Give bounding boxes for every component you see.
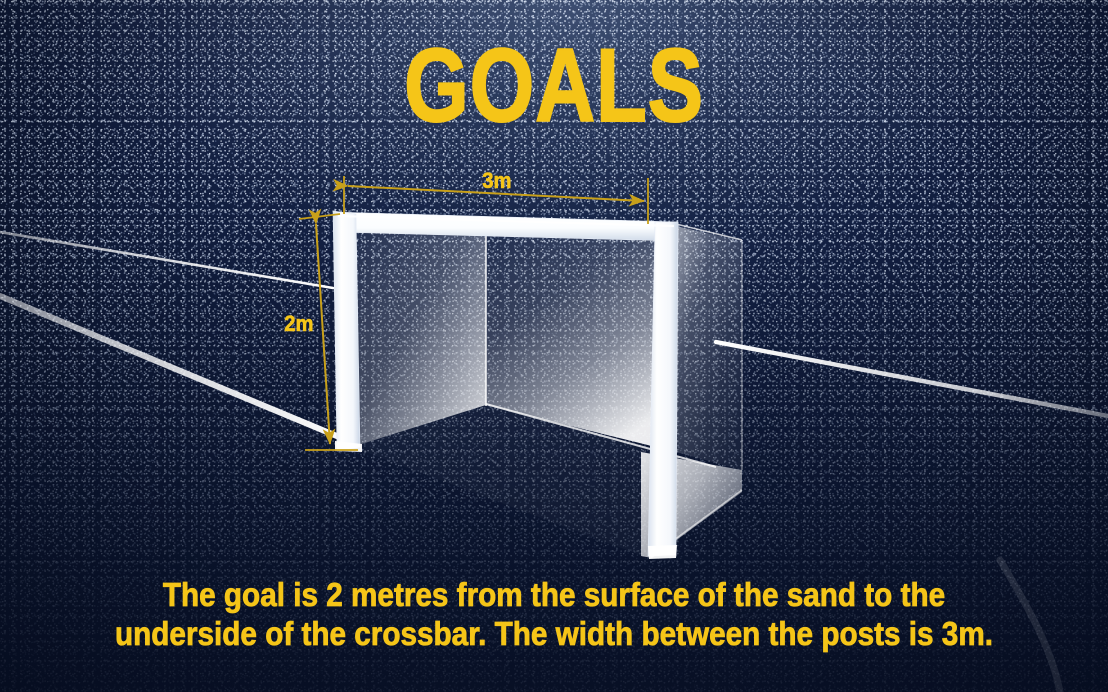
dimension-label-height: 2m (284, 311, 313, 337)
infographic-canvas: GOALS 3m 2m The goal is 2 metres from th… (0, 0, 1108, 692)
caption-line-1: The goal is 2 metres from the surface of… (91, 576, 1016, 615)
page-title: GOALS (111, 34, 997, 138)
dimension-label-width: 3m (482, 168, 511, 194)
caption-line-2: underside of the crossbar. The width bet… (91, 615, 1016, 654)
caption: The goal is 2 metres from the surface of… (91, 576, 1016, 653)
